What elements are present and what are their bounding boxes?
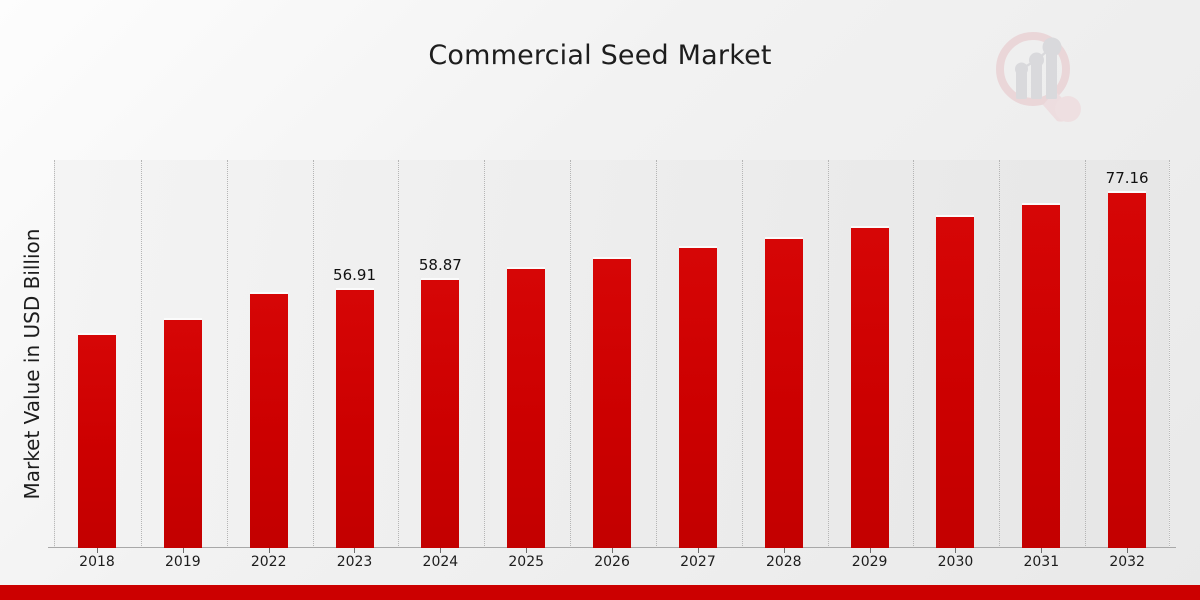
bar-2029[interactable] xyxy=(851,228,889,548)
x-tick-mark xyxy=(526,548,527,553)
bar-value-label-2032: 77.16 xyxy=(1075,169,1179,187)
x-axis: 2018201920222023202420252026202720282029… xyxy=(54,548,1170,578)
x-tick-mark xyxy=(269,548,270,553)
x-tick-mark xyxy=(870,548,871,553)
x-tick-mark xyxy=(97,548,98,553)
x-tick-mark xyxy=(698,548,699,553)
y-axis-title: Market Value in USD Billion xyxy=(20,164,44,564)
x-tick-mark xyxy=(784,548,785,553)
x-tick-label-2028: 2028 xyxy=(741,554,827,570)
bar-group-2025[interactable] xyxy=(483,160,569,548)
bars-layer: 56.9158.8777.16 xyxy=(54,160,1170,548)
x-tick-label-2019: 2019 xyxy=(140,554,226,570)
market-research-logo-icon xyxy=(985,25,1095,125)
bar-2027[interactable] xyxy=(679,248,717,548)
bar-group-2026[interactable] xyxy=(569,160,655,548)
bar-2026[interactable] xyxy=(593,259,631,548)
bar-2030[interactable] xyxy=(936,217,974,548)
x-tick-label-2032: 2032 xyxy=(1084,554,1170,570)
bar-group-2027[interactable] xyxy=(655,160,741,548)
chart-page: Commercial Seed Market Market Value in U… xyxy=(0,0,1200,600)
bar-2028[interactable] xyxy=(765,239,803,548)
x-tick-mark xyxy=(955,548,956,553)
x-tick-label-2027: 2027 xyxy=(655,554,741,570)
bar-value-label-2024: 58.87 xyxy=(388,256,492,274)
bar-2032[interactable] xyxy=(1108,193,1146,548)
footer-accent-strip xyxy=(0,585,1200,600)
x-tick-mark xyxy=(354,548,355,553)
bar-2025[interactable] xyxy=(507,269,545,548)
bar-2023[interactable] xyxy=(336,290,374,548)
bar-group-2023[interactable]: 56.91 xyxy=(312,160,398,548)
x-tick-mark xyxy=(183,548,184,553)
x-tick-mark xyxy=(440,548,441,553)
x-tick-mark xyxy=(1041,548,1042,553)
bar-group-2029[interactable] xyxy=(827,160,913,548)
bar-2019[interactable] xyxy=(164,320,202,548)
bar-group-2019[interactable] xyxy=(140,160,226,548)
bar-group-2030[interactable] xyxy=(912,160,998,548)
bar-group-2018[interactable] xyxy=(54,160,140,548)
x-tick-label-2025: 2025 xyxy=(483,554,569,570)
bar-group-2032[interactable]: 77.16 xyxy=(1084,160,1170,548)
x-tick-label-2029: 2029 xyxy=(827,554,913,570)
x-tick-label-2023: 2023 xyxy=(312,554,398,570)
x-tick-mark xyxy=(612,548,613,553)
bar-group-2028[interactable] xyxy=(741,160,827,548)
bar-group-2024[interactable]: 58.87 xyxy=(397,160,483,548)
bar-2022[interactable] xyxy=(250,294,288,548)
bar-2024[interactable] xyxy=(421,280,459,548)
x-tick-label-2031: 2031 xyxy=(998,554,1084,570)
bar-2018[interactable] xyxy=(78,335,116,548)
x-tick-label-2018: 2018 xyxy=(54,554,140,570)
bar-group-2031[interactable] xyxy=(998,160,1084,548)
bar-2031[interactable] xyxy=(1022,205,1060,548)
x-tick-label-2024: 2024 xyxy=(397,554,483,570)
x-tick-label-2022: 2022 xyxy=(226,554,312,570)
x-tick-label-2030: 2030 xyxy=(912,554,998,570)
x-tick-label-2026: 2026 xyxy=(569,554,655,570)
bar-group-2022[interactable] xyxy=(226,160,312,548)
x-tick-mark xyxy=(1127,548,1128,553)
